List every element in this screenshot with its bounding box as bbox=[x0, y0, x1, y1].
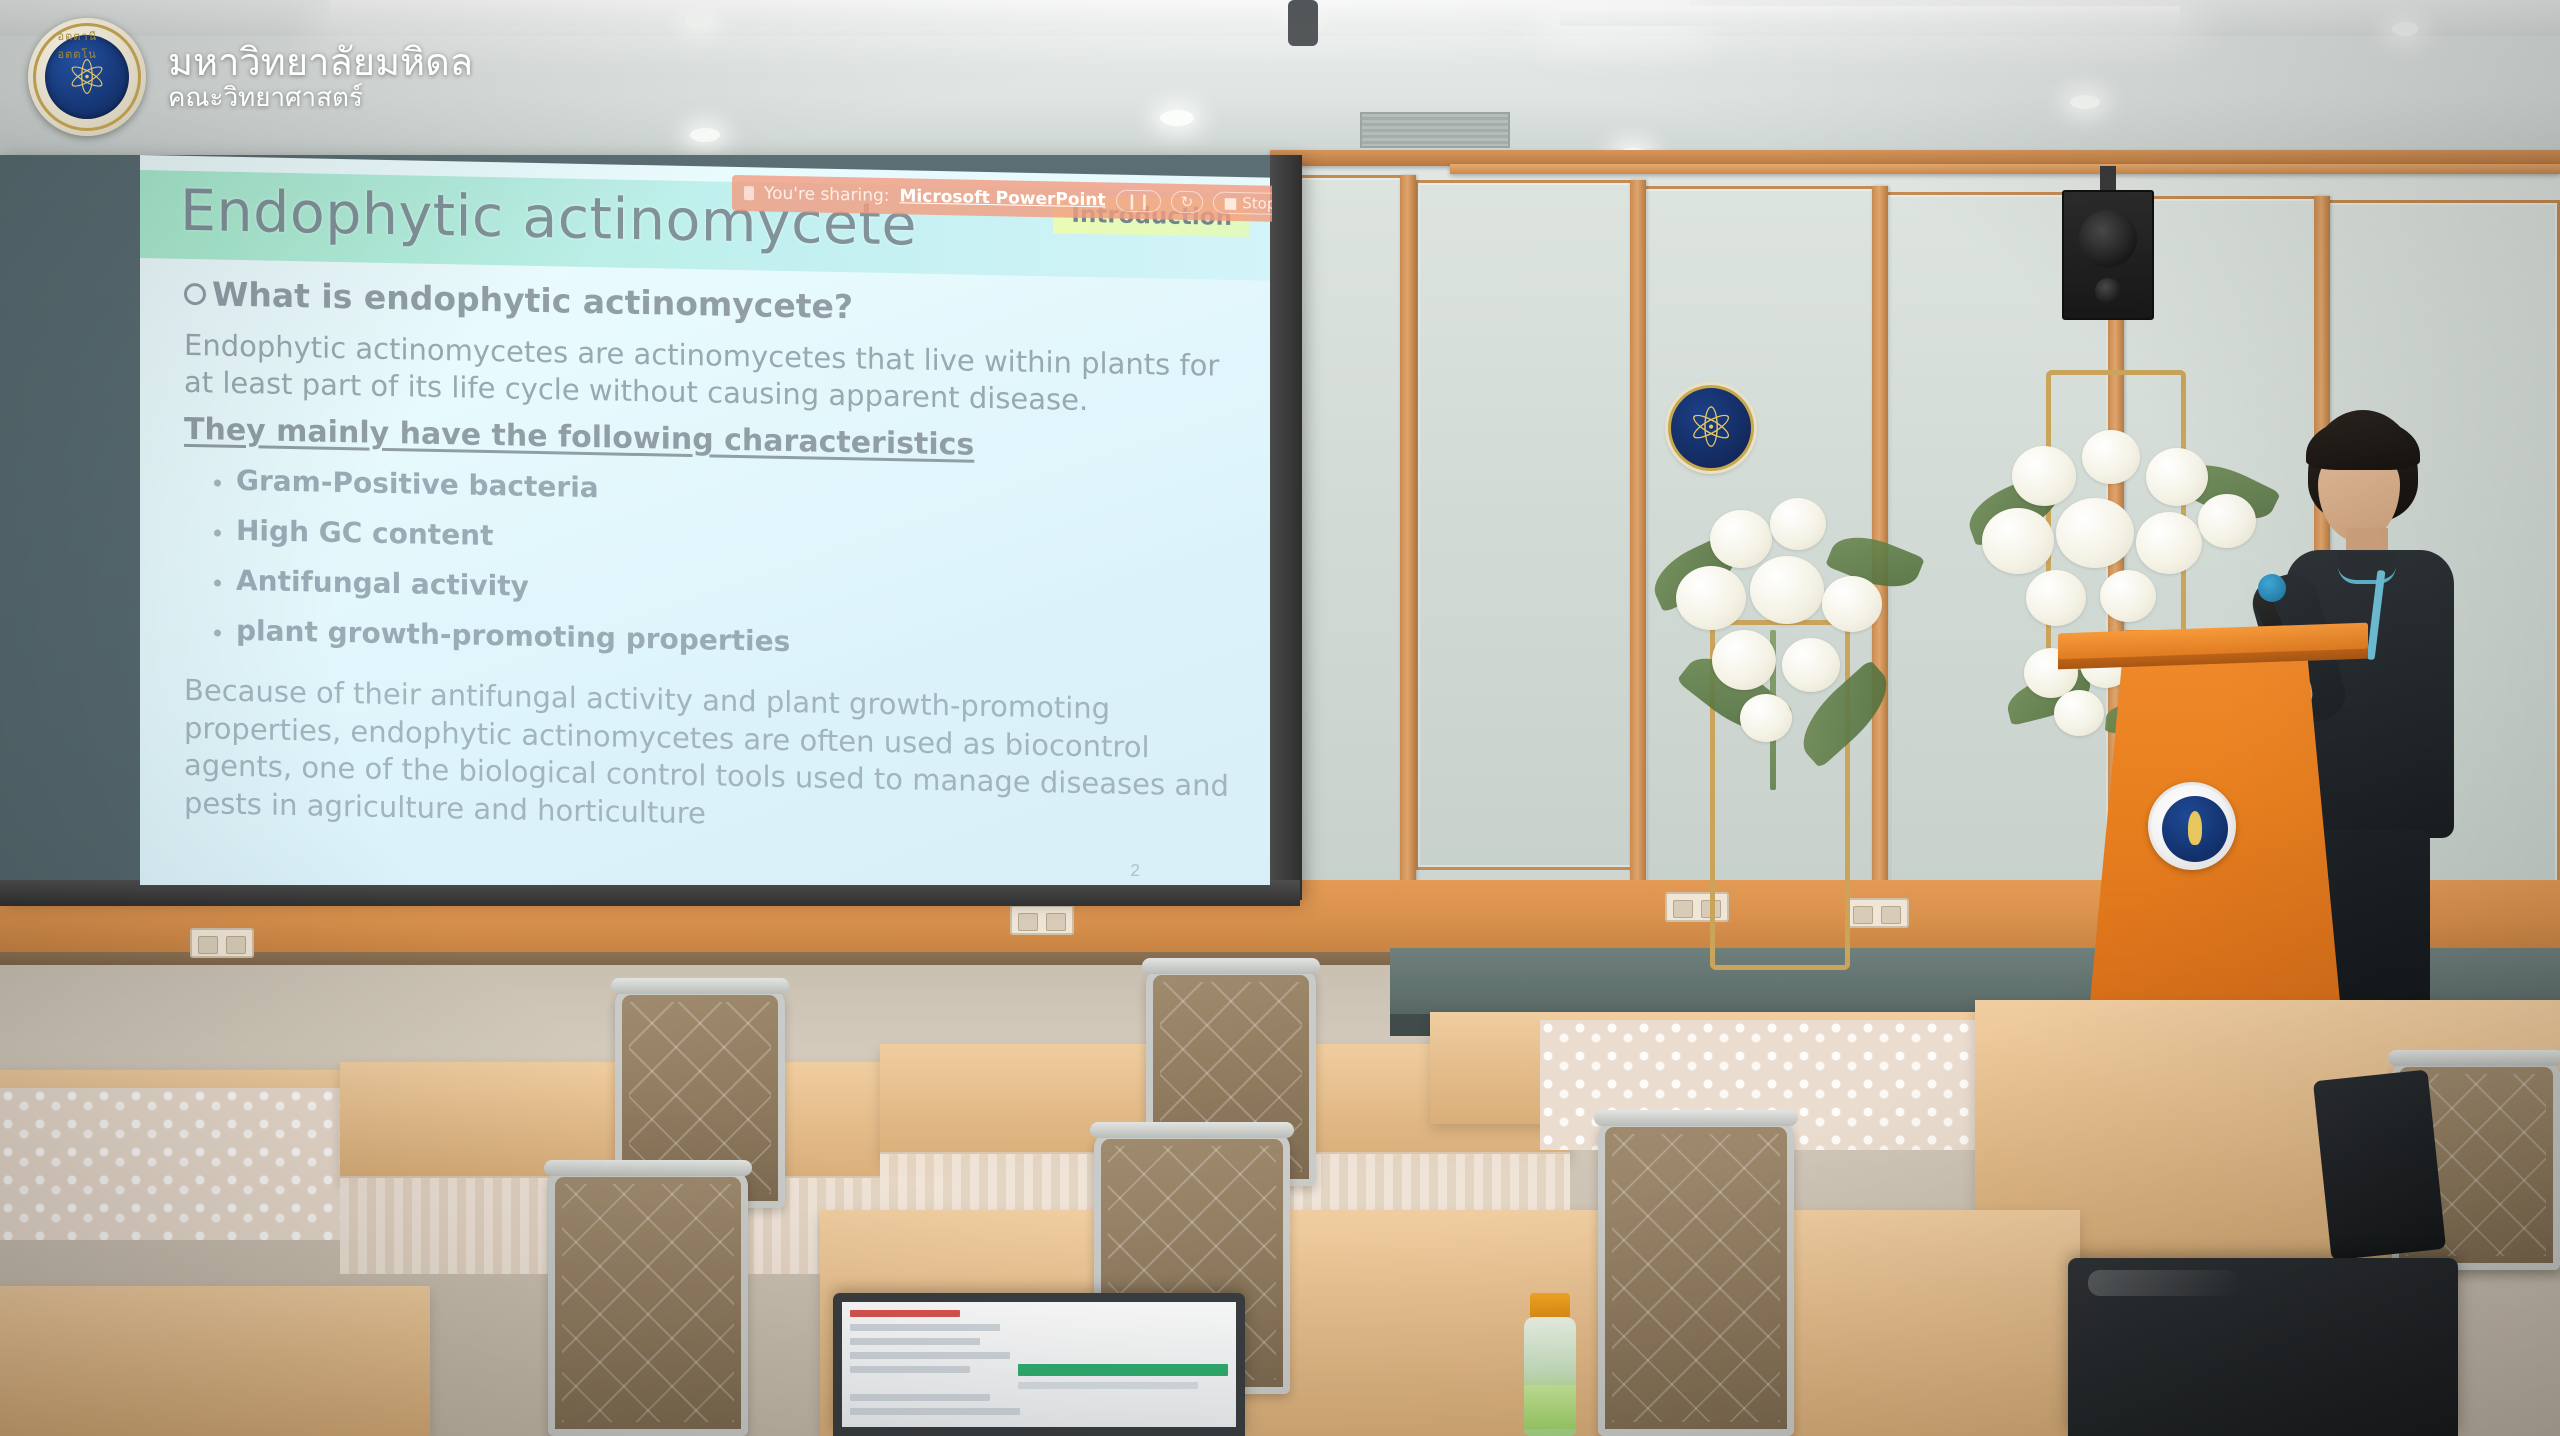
cornice-molding bbox=[1450, 164, 2560, 174]
white-flower bbox=[1782, 638, 1840, 692]
stop-share-button[interactable]: ■ Stop bbox=[1213, 192, 1272, 215]
university-logo-overlay: ⚛ อตตานี อตตโน มหาวิทยาลัยมหิดล คณะวิทยา… bbox=[28, 18, 473, 136]
white-flower bbox=[1712, 630, 1776, 690]
white-flower bbox=[1770, 498, 1826, 550]
list-item: High GC content bbox=[210, 513, 1234, 567]
laptop-ui-row bbox=[1018, 1382, 1198, 1389]
track-light-fixture bbox=[1288, 0, 1318, 46]
seal-crest-icon: ⚛ bbox=[1686, 400, 1736, 456]
wall-power-outlet[interactable] bbox=[190, 928, 254, 958]
ceiling-downlight bbox=[1160, 110, 1194, 126]
table-lace-skirt bbox=[0, 1088, 360, 1240]
university-logo-text: มหาวิทยาลัยมหิดล คณะวิทยาศาสตร์ bbox=[168, 41, 473, 113]
chair-pattern bbox=[1612, 1134, 1780, 1422]
white-flower bbox=[1740, 694, 1792, 742]
share-prefix-label: You're sharing: bbox=[764, 184, 890, 207]
chair-top-rail bbox=[2388, 1050, 2560, 1066]
conference-room-photo: ⚛ Endophytic actinomycete Introduction Y… bbox=[0, 0, 2560, 1436]
bottle-cap bbox=[1530, 1293, 1570, 1319]
ceiling-downlight bbox=[2070, 95, 2100, 109]
wall-power-outlet[interactable] bbox=[1845, 898, 1909, 928]
chair-top-rail bbox=[1090, 1122, 1294, 1138]
laptop-ui-row bbox=[850, 1338, 980, 1345]
audience-table bbox=[0, 1286, 430, 1436]
share-indicator-icon bbox=[744, 186, 754, 200]
stop-share-label: Stop bbox=[1242, 194, 1272, 213]
white-flower bbox=[1750, 556, 1824, 624]
list-item: plant growth-promoting properties bbox=[210, 613, 1234, 667]
slide-body: What is endophytic actinomycete? Endophy… bbox=[184, 274, 1234, 844]
floral-arrangement-left bbox=[1640, 480, 1930, 800]
projection-screen: Endophytic actinomycete Introduction You… bbox=[0, 155, 1272, 885]
white-flower bbox=[2100, 570, 2156, 622]
laptop-screen[interactable] bbox=[833, 1293, 1245, 1436]
question-heading-text: What is endophytic actinomycete? bbox=[212, 274, 853, 326]
chair-backrest bbox=[1598, 1120, 1794, 1436]
laptop-ui-row bbox=[850, 1352, 1010, 1359]
white-flower bbox=[2012, 446, 2076, 506]
restart-share-button[interactable]: ↻ bbox=[1171, 191, 1204, 214]
dark-bag bbox=[2313, 1069, 2446, 1260]
shared-app-name: Microsoft PowerPoint bbox=[900, 186, 1106, 210]
white-flower bbox=[1982, 508, 2054, 574]
presenter-collar bbox=[2338, 552, 2396, 584]
speaker-tweeter-icon bbox=[2095, 278, 2121, 304]
slide-definition-paragraph: Endophytic actinomycetes are actinomycet… bbox=[184, 327, 1234, 421]
lectern-seal bbox=[2148, 782, 2236, 870]
ceiling-air-vent bbox=[1360, 112, 1510, 148]
white-flower bbox=[2026, 570, 2086, 626]
chair-top-rail bbox=[544, 1160, 752, 1176]
laptop-ui-row bbox=[850, 1394, 990, 1401]
white-flower bbox=[2146, 448, 2208, 506]
white-flower bbox=[2056, 498, 2134, 568]
wall-panel bbox=[1288, 175, 1408, 895]
presenter-fringe bbox=[2306, 418, 2420, 470]
circle-bullet-icon bbox=[184, 282, 206, 304]
water-bottle bbox=[1518, 1293, 1582, 1436]
chair-backrest bbox=[548, 1170, 748, 1436]
wall-pilaster bbox=[1400, 175, 1416, 895]
slide-question-heading: What is endophytic actinomycete? bbox=[184, 274, 1234, 334]
dark-monitor[interactable] bbox=[2068, 1258, 2458, 1436]
university-name: มหาวิทยาลัยมหิดล bbox=[168, 41, 473, 84]
laptop-ui-row bbox=[850, 1310, 960, 1317]
slide-characteristics-list: Gram-Positive bacteria High GC content A… bbox=[210, 463, 1234, 667]
ceiling-downlight bbox=[2392, 22, 2418, 36]
white-flower bbox=[2198, 494, 2256, 548]
screen-right-border bbox=[1270, 155, 1302, 900]
laptop-ui-row bbox=[1018, 1364, 1228, 1376]
presentation-slide: Endophytic actinomycete Introduction You… bbox=[140, 155, 1270, 885]
wall-power-outlet[interactable] bbox=[1010, 905, 1074, 935]
slide-closing-paragraph: Because of their antifungal activity and… bbox=[184, 672, 1234, 844]
laptop-ui-row bbox=[850, 1366, 970, 1373]
lectern-seal-inner bbox=[2162, 796, 2228, 862]
wall-panel bbox=[1415, 180, 1635, 870]
white-flower bbox=[2136, 512, 2202, 574]
white-flower bbox=[2054, 690, 2104, 736]
microphone-head-icon bbox=[2258, 574, 2286, 602]
monitor-glare bbox=[2088, 1270, 2238, 1296]
laptop-display bbox=[842, 1302, 1236, 1427]
list-item: Antifungal activity bbox=[210, 563, 1234, 617]
ceiling-light-strip bbox=[330, 0, 1690, 26]
white-flower bbox=[2082, 430, 2140, 484]
slide-page-number: 2 bbox=[1131, 861, 1140, 881]
slide-characteristics-heading: They mainly have the following character… bbox=[184, 412, 974, 463]
chair-top-rail bbox=[611, 978, 789, 994]
white-flower bbox=[1822, 576, 1882, 632]
white-flower bbox=[1676, 566, 1746, 630]
pause-share-button[interactable]: ❙❙ bbox=[1116, 190, 1161, 213]
ceiling-downlight bbox=[686, 12, 712, 28]
ceiling-light-strip bbox=[1560, 6, 2180, 26]
chair-top-rail bbox=[1142, 958, 1320, 974]
audience-chair bbox=[1598, 1120, 1794, 1436]
laptop-ui-row bbox=[850, 1408, 1020, 1415]
laptop-ui-row bbox=[850, 1324, 1000, 1331]
chair-top-rail bbox=[1594, 1110, 1798, 1126]
white-flower bbox=[1710, 510, 1772, 568]
bottle-label bbox=[1524, 1385, 1576, 1429]
mahidol-university-seal: ⚛ อตตานี อตตโน bbox=[28, 18, 146, 136]
audience-chair bbox=[548, 1170, 748, 1436]
seal-motto-text: อตตานี อตตโน bbox=[58, 27, 117, 63]
mahidol-wall-seal: ⚛ bbox=[1668, 385, 1754, 471]
ceiling-downlight bbox=[690, 128, 720, 142]
faculty-name: คณะวิทยาศาสตร์ bbox=[168, 84, 473, 113]
ceiling-speaker bbox=[2062, 190, 2154, 320]
speaker-cone-icon bbox=[2079, 210, 2137, 268]
chair-pattern bbox=[562, 1184, 734, 1422]
list-item: Gram-Positive bacteria bbox=[210, 463, 1234, 517]
